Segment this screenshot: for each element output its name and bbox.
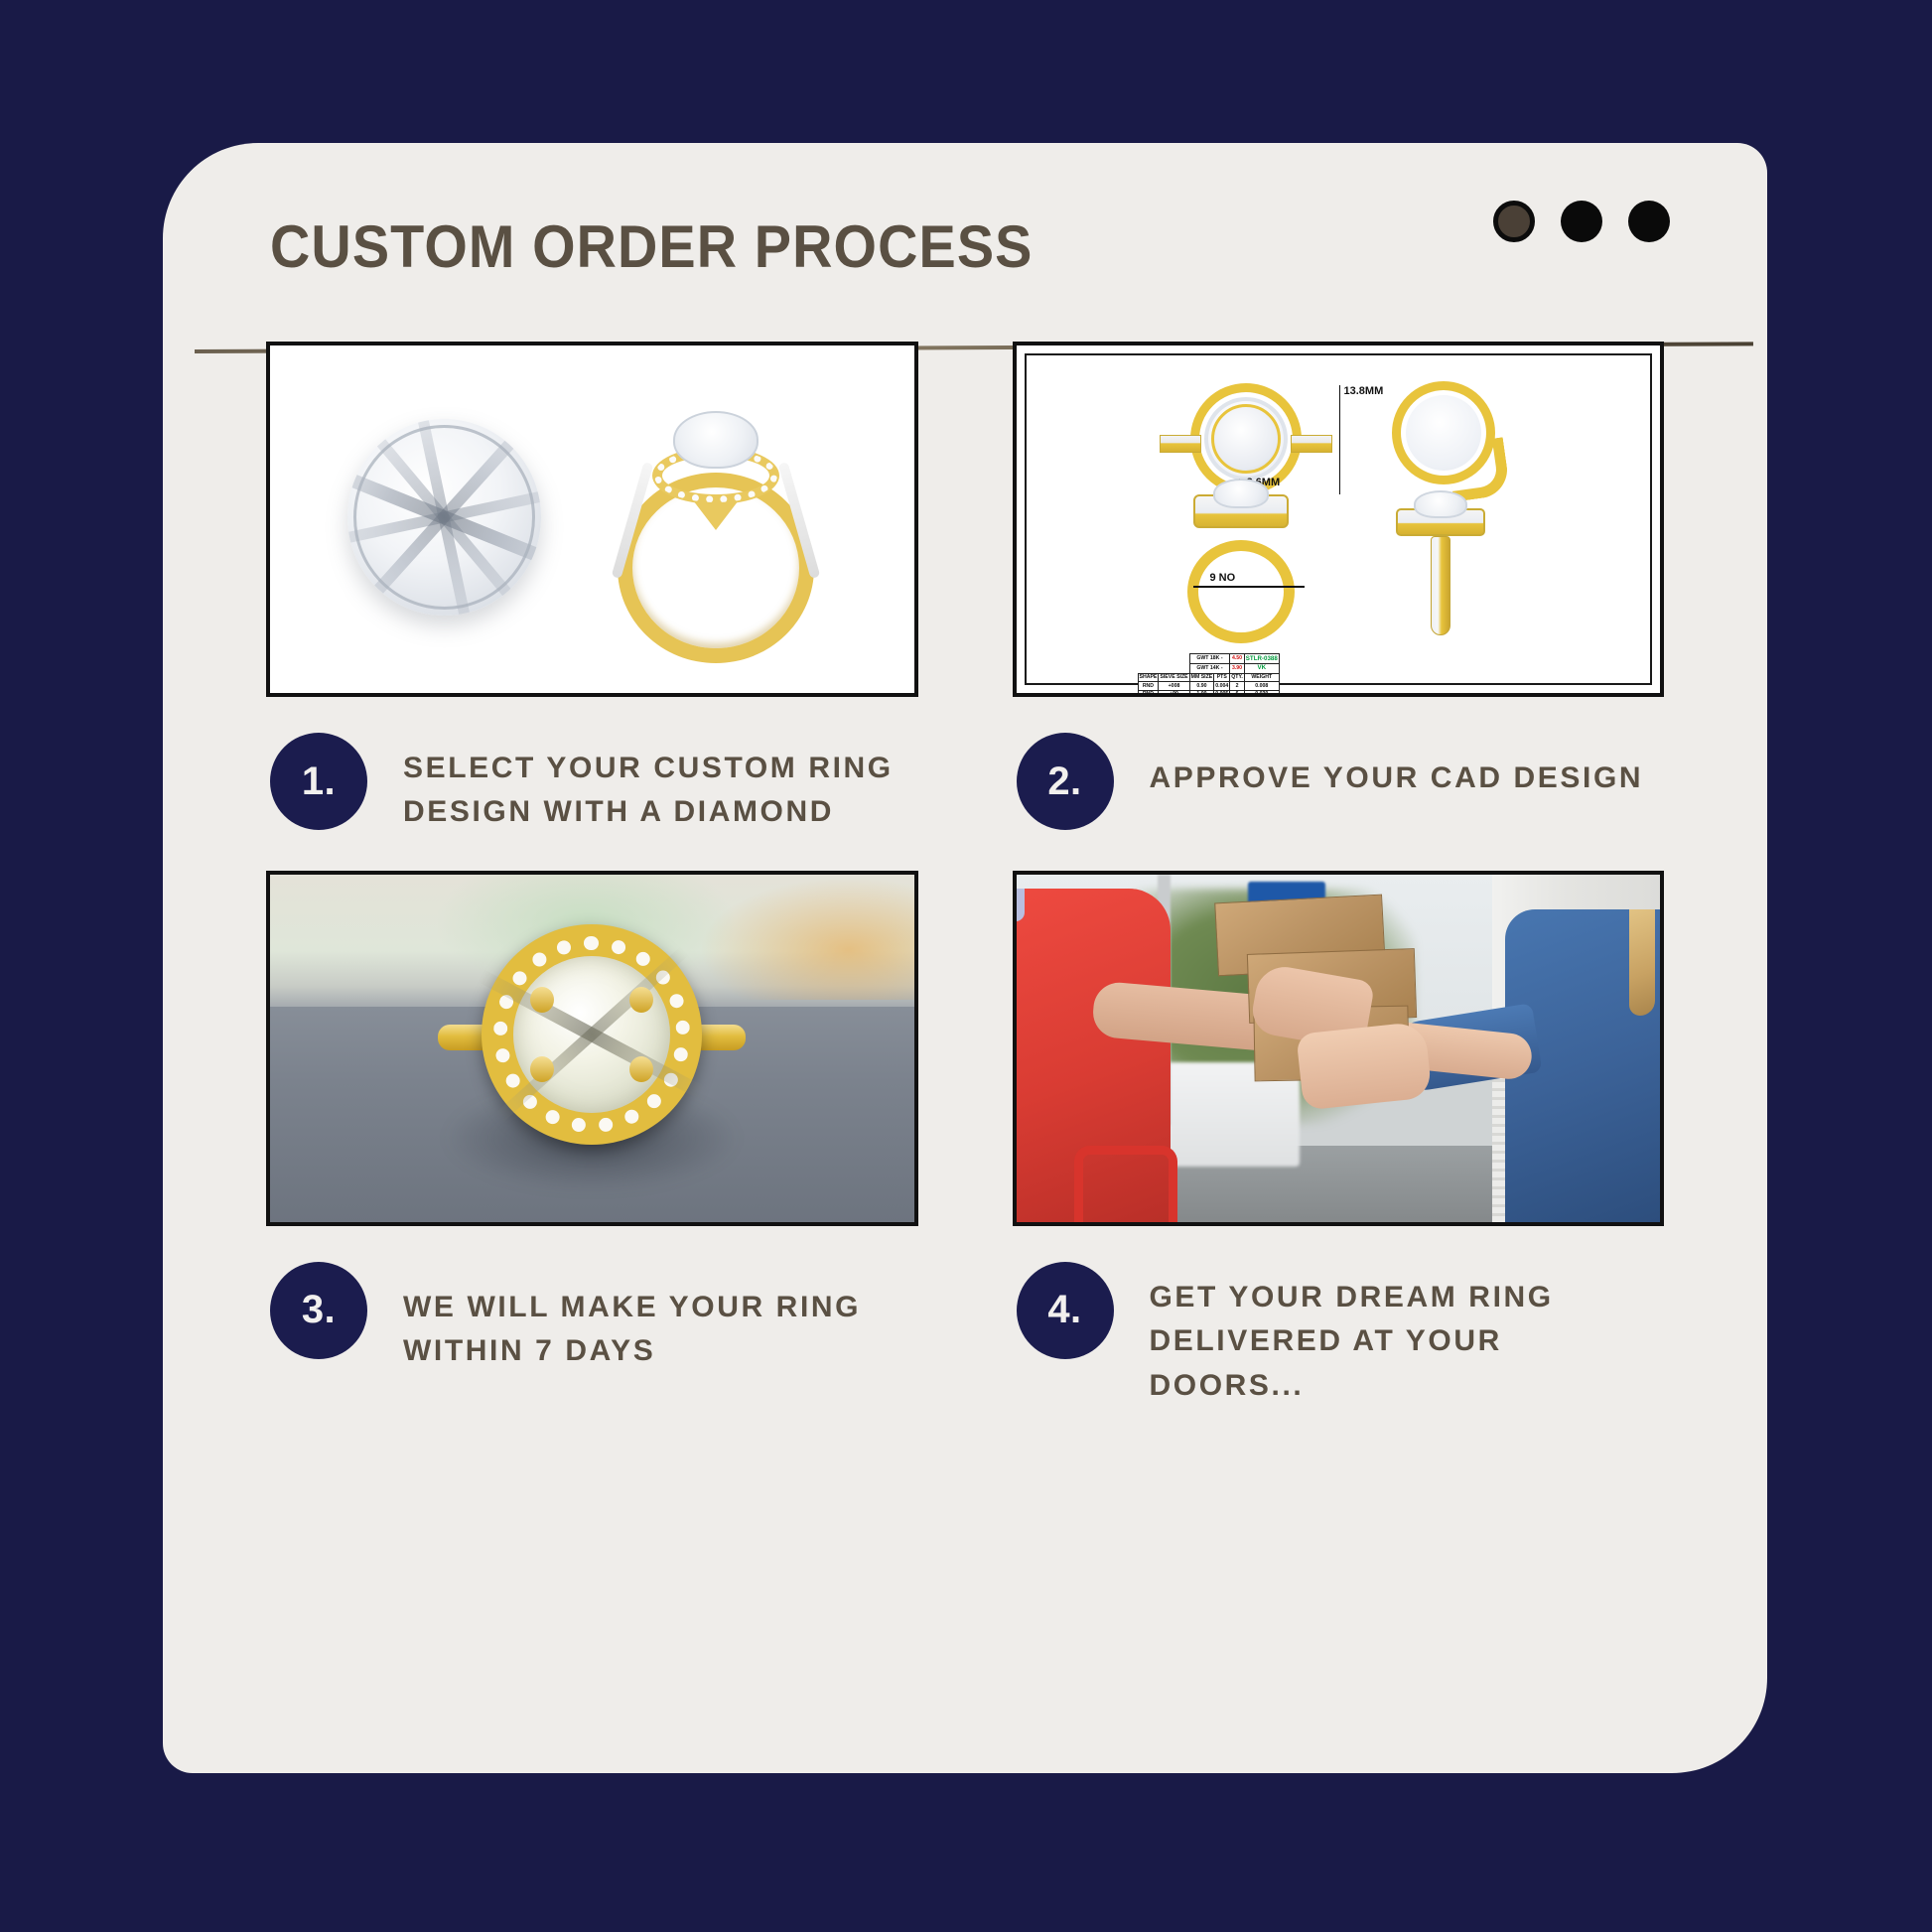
- cad-three-quarter-view: [1392, 381, 1501, 500]
- cad-spec-table: GWT 18K - 4.50 STLR-0388 GWT 14K - 3.90 …: [1138, 653, 1280, 697]
- step-2-caption-row: 2. APPROVE YOUR CAD DESIGN: [1013, 733, 1665, 830]
- cad-cell: RND: [1138, 690, 1159, 697]
- step-4-caption-row: 4. GET YOUR DREAM RING DELIVERED AT YOUR…: [1013, 1262, 1665, 1408]
- cad-spec-row-gwt14k: GWT 14K - 3.90 VK: [1138, 663, 1279, 673]
- cad-ring-size-line: [1193, 586, 1305, 588]
- window-dot-brown-icon[interactable]: [1493, 201, 1535, 242]
- step-1-badge: 1.: [270, 733, 367, 830]
- step-card-1[interactable]: 1. SELECT YOUR CUSTOM RING DESIGN WITH A…: [266, 342, 918, 835]
- step-3-image: [266, 871, 918, 1226]
- customer-hand: [1296, 1021, 1432, 1110]
- step-3-caption: WE WILL MAKE YOUR RING WITHIN 7 DAYS: [403, 1262, 918, 1374]
- step-2-image: 13.8MM 8.6MM: [1013, 342, 1665, 697]
- cad-ring-size-label: 9 NO: [1210, 572, 1236, 584]
- cad-col-weight: WEIGHT: [1244, 673, 1279, 682]
- step-card-4[interactable]: 4. GET YOUR DREAM RING DELIVERED AT YOUR…: [1013, 871, 1665, 1408]
- cad-profile-view: [1396, 494, 1485, 643]
- cad-cell: 6: [1230, 690, 1245, 697]
- step-4-caption: GET YOUR DREAM RING DELIVERED AT YOUR DO…: [1150, 1262, 1665, 1408]
- card-header: CUSTOM ORDER PROCESS: [163, 143, 1767, 361]
- step-3-caption-row: 3. WE WILL MAKE YOUR RING WITHIN 7 DAYS: [266, 1262, 918, 1374]
- cad-gwt18k-value: 4.50: [1230, 654, 1245, 664]
- hand-truck: [1074, 1146, 1177, 1222]
- cad-gwt14k-label: GWT 14K -: [1189, 663, 1230, 673]
- gold-ring-graphic: [602, 405, 830, 663]
- cad-col-qty: QTY.: [1230, 673, 1245, 682]
- step-card-3[interactable]: 3. WE WILL MAKE YOUR RING WITHIN 7 DAYS: [266, 871, 918, 1408]
- step-card-2[interactable]: 13.8MM 8.6MM: [1013, 342, 1665, 835]
- cad-cell: +90: [1159, 690, 1189, 697]
- step-1-caption: SELECT YOUR CUSTOM RING DESIGN WITH A DI…: [403, 733, 918, 835]
- cad-initials: VK: [1244, 663, 1279, 673]
- cad-height-dim-label: 13.8MM: [1344, 385, 1384, 397]
- cad-height-dim-line: [1339, 385, 1341, 494]
- cad-spec-data-row: RND +008 0.90 0.004 2 0.008: [1138, 682, 1279, 691]
- steps-grid: 1. SELECT YOUR CUSTOM RING DESIGN WITH A…: [163, 342, 1767, 1408]
- cad-cell: 0.030: [1244, 690, 1279, 697]
- cad-col-mm: MM SIZE: [1189, 673, 1214, 682]
- cad-cell: 0.005: [1214, 690, 1230, 697]
- cad-cell: 2: [1230, 682, 1245, 691]
- window-dot-black-1-icon[interactable]: [1561, 201, 1602, 242]
- cad-cell: +008: [1159, 682, 1189, 691]
- cad-cell: 1.00: [1189, 690, 1214, 697]
- cad-col-shape: SHAPE: [1138, 673, 1159, 682]
- face-mask-icon: [1013, 889, 1026, 922]
- cad-cell: 0.004: [1214, 682, 1230, 691]
- finished-ring-center-stone: [513, 956, 670, 1113]
- loose-diamond-graphic: [347, 419, 541, 616]
- cad-col-sieve: SIEVE SIZE: [1159, 673, 1189, 682]
- cad-cell: 0.008: [1244, 682, 1279, 691]
- step-1-image: [266, 342, 918, 697]
- cad-drawing-sheet: 13.8MM 8.6MM: [1025, 353, 1653, 685]
- window-dot-black-2-icon[interactable]: [1628, 201, 1670, 242]
- cad-gwt14k-value: 3.90: [1230, 663, 1245, 673]
- step-2-badge: 2.: [1017, 733, 1114, 830]
- step-2-caption: APPROVE YOUR CAD DESIGN: [1150, 733, 1644, 800]
- cad-spec-data-row: RND +90 1.00 0.005 6 0.030: [1138, 690, 1279, 697]
- cad-front-view: [1177, 494, 1305, 643]
- cad-col-pts: PTS: [1214, 673, 1230, 682]
- step-4-badge: 4.: [1017, 1262, 1114, 1359]
- step-3-badge: 3.: [270, 1262, 367, 1359]
- window-dots: [1493, 201, 1670, 242]
- step-4-image: [1013, 871, 1665, 1226]
- cad-top-view: [1190, 383, 1302, 494]
- page-title: CUSTOM ORDER PROCESS: [270, 212, 1033, 281]
- cad-spec-row-gwt18k: GWT 18K - 4.50 STLR-0388: [1138, 654, 1279, 664]
- cad-style-code: STLR-0388: [1244, 654, 1279, 664]
- cad-cell: 0.90: [1189, 682, 1214, 691]
- step-1-caption-row: 1. SELECT YOUR CUSTOM RING DESIGN WITH A…: [266, 733, 918, 835]
- cad-cell: RND: [1138, 682, 1159, 691]
- cad-gwt18k-label: GWT 18K -: [1189, 654, 1230, 664]
- cad-spec-header-row: SHAPE SIEVE SIZE MM SIZE PTS QTY. WEIGHT: [1138, 673, 1279, 682]
- browser-card: CUSTOM ORDER PROCESS: [163, 143, 1767, 1773]
